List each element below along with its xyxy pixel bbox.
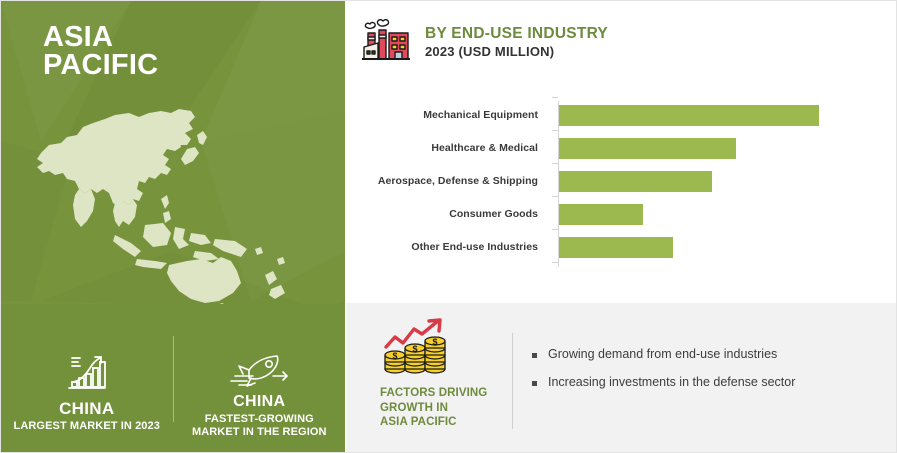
region-stats-row: CHINA LARGEST MARKET IN 2023 [1,304,345,453]
coins-growth-icon: $ $ [382,317,448,375]
chart-tick [552,262,558,263]
bar [559,138,736,159]
svg-text:$: $ [432,337,437,347]
bar-category-label: Healthcare & Medical [346,143,548,155]
bar [559,171,712,192]
growth-bar-chart-icon [65,350,109,394]
bar [559,237,673,258]
region-title: ASIA PACIFIC [43,23,158,80]
square-bullet-icon [532,353,537,358]
region-panel: ASIA PACIFIC [1,1,345,453]
rocket-icon [229,344,289,388]
chart-tick [552,163,558,164]
asia-pacific-infographic: ASIA PACIFIC [0,0,897,453]
square-bullet-icon [532,381,537,386]
factor-item: Growing demand from end-use industries [532,347,872,363]
bar-chart-plot: Mechanical EquipmentHealthcare & Medical… [346,97,897,272]
factors-label-block: $ $ [380,317,498,430]
bar-category-label: Consumer Goods [346,209,548,221]
chart-title-block: BY END-USE INDUSTRY 2023 (USD MILLION) [425,19,608,59]
factory-icon [360,19,412,67]
stat-sub-line1: FASTEST-GROWING [192,413,327,427]
factor-text: Growing demand from end-use industries [548,347,777,363]
stat-sub-label: FASTEST-GROWING MARKET IN THE REGION [192,413,327,440]
bar-category-label: Aerospace, Defense & Shipping [346,176,548,188]
chart-title: BY END-USE INDUSTRY [425,25,608,42]
stat-main-label: CHINA [59,399,114,418]
chart-tick [552,97,558,98]
chart-tick [552,130,558,131]
factor-text: Increasing investments in the defense se… [548,375,795,391]
factors-panel: $ $ [346,303,897,453]
rocket-icon-svg [229,352,289,388]
bar-category-label: Mechanical Equipment [346,110,548,122]
factor-item: Increasing investments in the defense se… [532,375,872,391]
svg-text:$: $ [412,344,417,354]
stat-main-label: CHINA [233,393,285,411]
asia-pacific-map [19,93,331,305]
factors-title-line3: ASIA PACIFIC [380,415,498,430]
chart-tick [552,196,558,197]
factors-divider [512,333,513,429]
bar-rows: Mechanical EquipmentHealthcare & Medical… [346,97,897,272]
chart-subtitle: 2023 (USD MILLION) [425,44,608,59]
bar-category-label: Other End-use Industries [346,242,548,254]
region-title-line1: ASIA [43,23,158,51]
factors-list: Growing demand from end-use industriesIn… [532,347,872,402]
factors-title: FACTORS DRIVING GROWTH IN ASIA PACIFIC [380,386,498,430]
bar [559,105,819,126]
region-stats-band: CHINA LARGEST MARKET IN 2023 [1,304,345,453]
stat-sub-line2: MARKET IN THE REGION [192,426,327,440]
region-title-line2: PACIFIC [43,51,158,79]
chart-header: BY END-USE INDUSTRY 2023 (USD MILLION) [360,19,608,67]
bar [559,204,643,225]
stat-largest-market: CHINA LARGEST MARKET IN 2023 [1,324,173,434]
svg-text:$: $ [392,351,397,361]
stat-sub-label: LARGEST MARKET IN 2023 [14,420,160,434]
factors-title-line1: FACTORS DRIVING [380,386,498,401]
asia-pacific-map-icon [19,93,331,305]
growth-bar-chart-icon-svg [65,352,109,394]
stat-fastest-growing: CHINA FASTEST-GROWING MARKET IN THE REGI… [174,318,346,440]
chart-tick [552,229,558,230]
factors-title-line2: GROWTH IN [380,401,498,416]
chart-panel: BY END-USE INDUSTRY 2023 (USD MILLION) M… [346,1,897,303]
